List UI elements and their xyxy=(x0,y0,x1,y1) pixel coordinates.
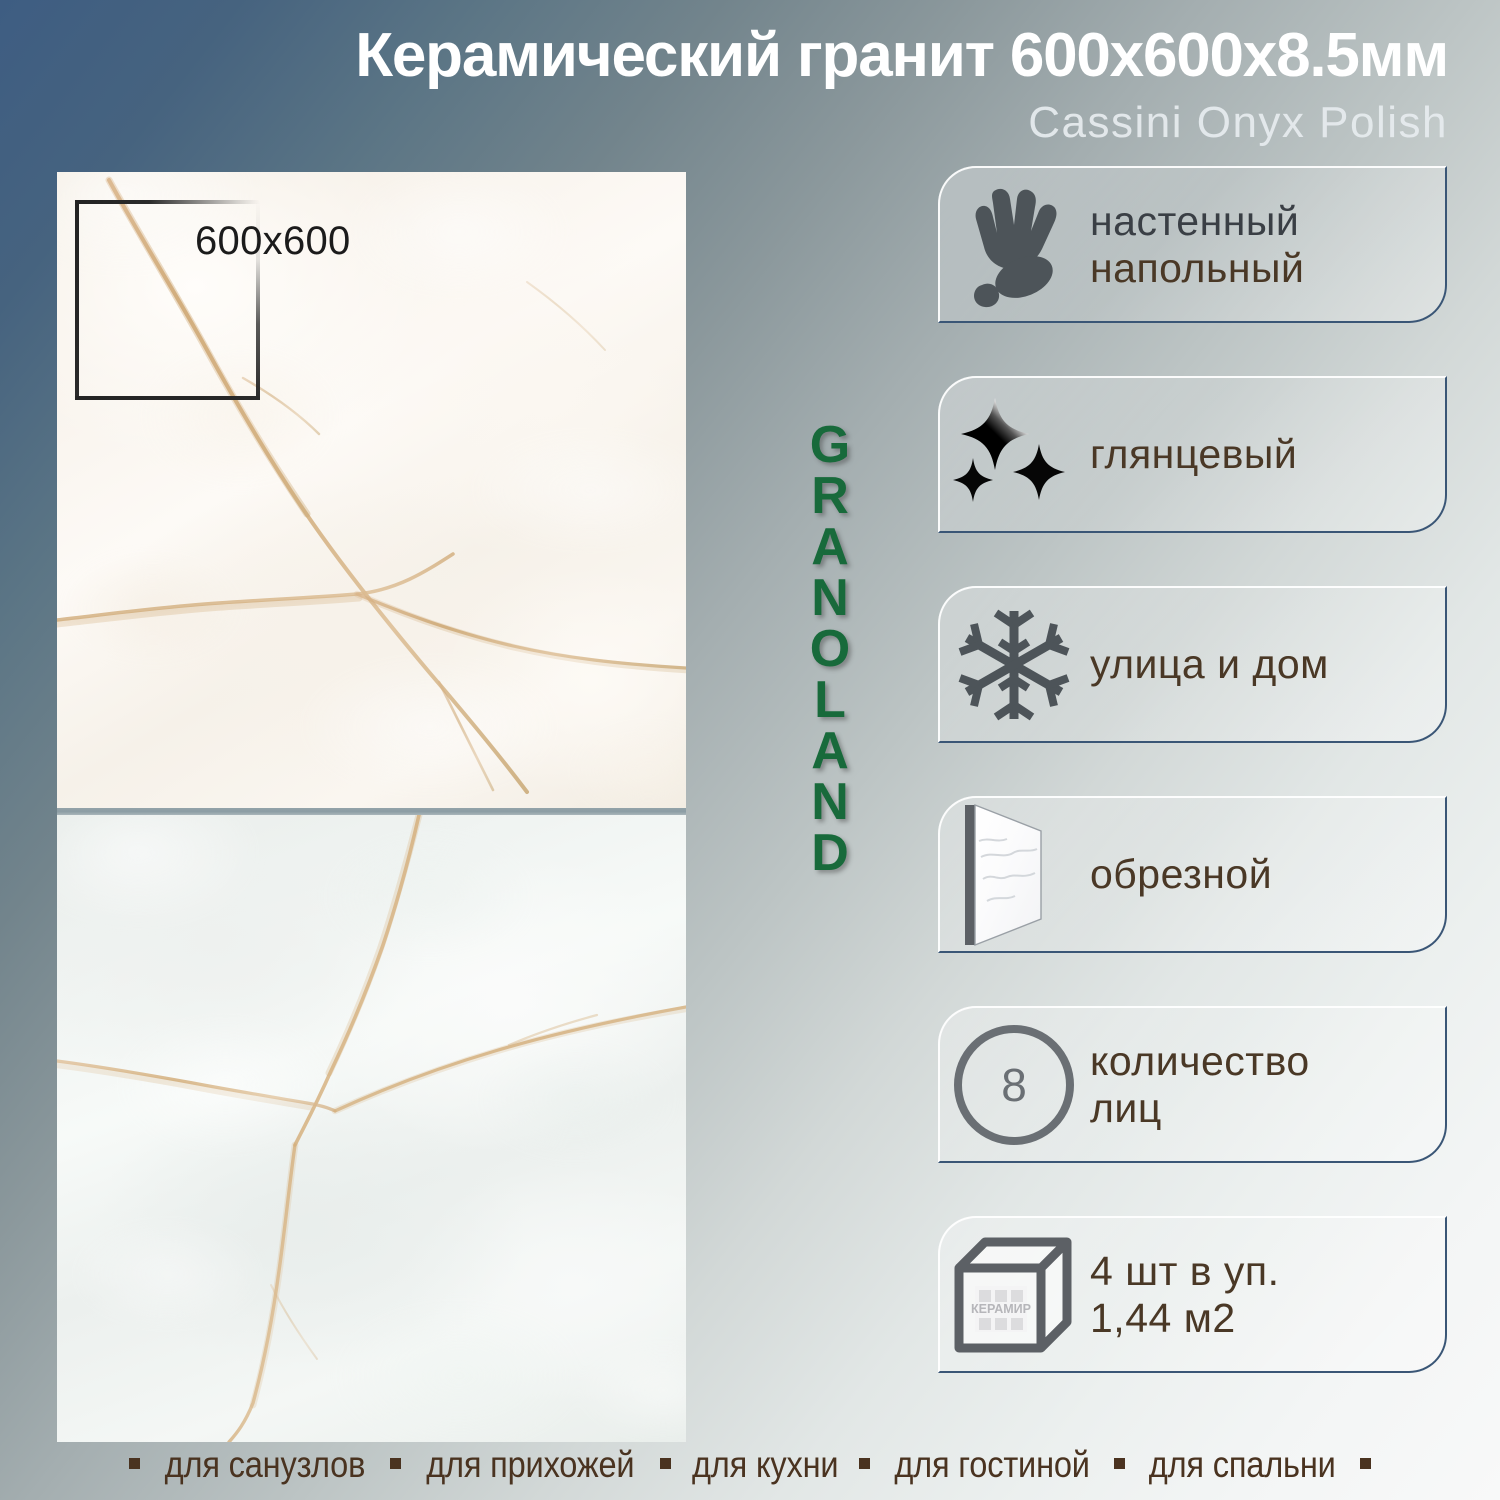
badge-label: обрезной xyxy=(1090,851,1272,898)
snowflake-icon xyxy=(938,586,1090,743)
badge-rectified: обрезной xyxy=(938,796,1447,953)
brand-letter: A xyxy=(795,726,865,777)
header: Керамический гранит 600x600x8.5мм Cassin… xyxy=(0,0,1500,168)
room-usage-strip: для санузловдля прихожейдля кухнидля гос… xyxy=(0,1444,1500,1486)
badge-package: КЕРАМИР 4 шт в уп. 1,44 м2 xyxy=(938,1216,1447,1373)
tile-sample-warm: 600x600 xyxy=(57,172,686,808)
badge-line: напольный xyxy=(1090,245,1304,292)
badge-line: глянцевый xyxy=(1090,431,1297,478)
room-label: для прихожей xyxy=(426,1444,634,1486)
package-box-icon: КЕРАМИР xyxy=(938,1216,1090,1373)
badge-line: 4 шт в уп. xyxy=(1090,1248,1280,1295)
bullet-icon xyxy=(1360,1458,1371,1469)
badge-label: глянцевый xyxy=(1090,431,1297,478)
badge-label: 4 шт в уп. 1,44 м2 xyxy=(1090,1248,1280,1341)
room-label: для санузлов xyxy=(165,1444,366,1486)
tile-size-label: 600x600 xyxy=(195,219,351,264)
page-title: Керамический гранит 600x600x8.5мм xyxy=(355,24,1448,88)
bullet-icon xyxy=(129,1458,140,1469)
badge-line: обрезной xyxy=(1090,851,1272,898)
badge-face-count: 8 количество лиц xyxy=(938,1006,1447,1163)
bullet-icon xyxy=(390,1458,401,1469)
bullet-icon xyxy=(660,1458,671,1469)
brand-letter: R xyxy=(795,471,865,522)
badge-line: настенный xyxy=(1090,198,1304,245)
badge-glossy: глянцевый xyxy=(938,376,1447,533)
brand-letter: A xyxy=(795,522,865,573)
badge-wall-floor: настенный напольный xyxy=(938,166,1447,323)
room-label: для гостиной xyxy=(895,1444,1090,1486)
room-label: для кухни xyxy=(692,1444,838,1486)
brand-letter: N xyxy=(795,573,865,624)
brand-letter: O xyxy=(795,624,865,675)
brand-letter: G xyxy=(795,420,865,471)
tile-edge-icon xyxy=(938,796,1090,953)
badge-line: улица и дом xyxy=(1090,641,1329,688)
brand-letter: L xyxy=(795,675,865,726)
circle-count-icon: 8 xyxy=(938,1006,1090,1163)
brand-letter: N xyxy=(795,777,865,828)
page-subtitle: Cassini Onyx Polish xyxy=(1028,100,1448,146)
package-brand-label: КЕРАМИР xyxy=(971,1302,1031,1316)
room-label: для спальни xyxy=(1149,1444,1336,1486)
tile-divider xyxy=(57,808,686,815)
bullet-icon xyxy=(1114,1458,1125,1469)
bullet-icon xyxy=(859,1458,870,1469)
brand-letter: D xyxy=(795,828,865,879)
product-image-gallery: 600x600 xyxy=(57,172,686,1442)
badge-label: количество лиц xyxy=(1090,1038,1310,1131)
badge-line: количество xyxy=(1090,1038,1310,1085)
face-count-value: 8 xyxy=(1001,1059,1027,1111)
sparkle-icon xyxy=(938,376,1090,533)
badge-label: улица и дом xyxy=(1090,641,1329,688)
badge-label: настенный напольный xyxy=(1090,198,1304,291)
badge-line: 1,44 м2 xyxy=(1090,1295,1280,1342)
brand-logo-vertical: G R A N O L A N D xyxy=(795,420,865,879)
badge-line: лиц xyxy=(1090,1085,1310,1132)
feature-badge-list: настенный напольный xyxy=(938,166,1450,1426)
tile-sample-cool xyxy=(57,815,686,1442)
badge-frost-resistant: улица и дом xyxy=(938,586,1447,743)
hand-and-footprint-icon xyxy=(938,166,1090,323)
marble-veins xyxy=(57,815,686,1442)
